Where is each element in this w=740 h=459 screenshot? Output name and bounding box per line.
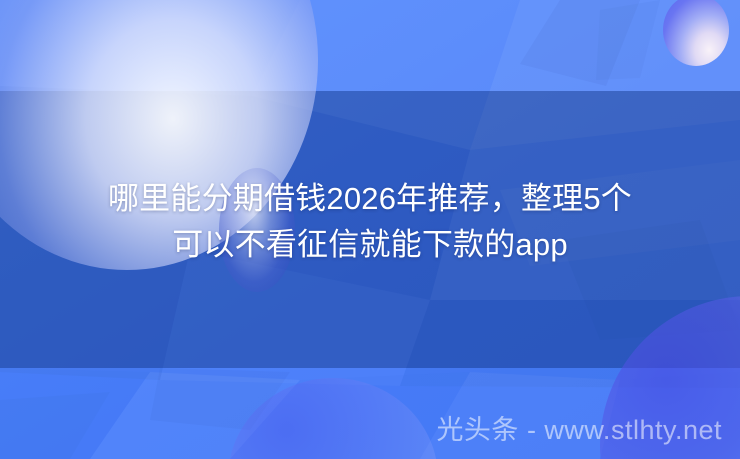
top-right-oval-blob	[663, 0, 729, 66]
bottom-left-orb-blob	[228, 378, 438, 459]
watermark-text: 光头条 - www.stlhty.net	[436, 413, 722, 447]
cover-image-canvas: 哪里能分期借钱2026年推荐，整理5个 可以不看征信就能下款的app 光头条 -…	[0, 0, 740, 459]
band-top	[0, 0, 740, 91]
headline-text: 哪里能分期借钱2026年推荐，整理5个 可以不看征信就能下款的app	[0, 176, 740, 268]
